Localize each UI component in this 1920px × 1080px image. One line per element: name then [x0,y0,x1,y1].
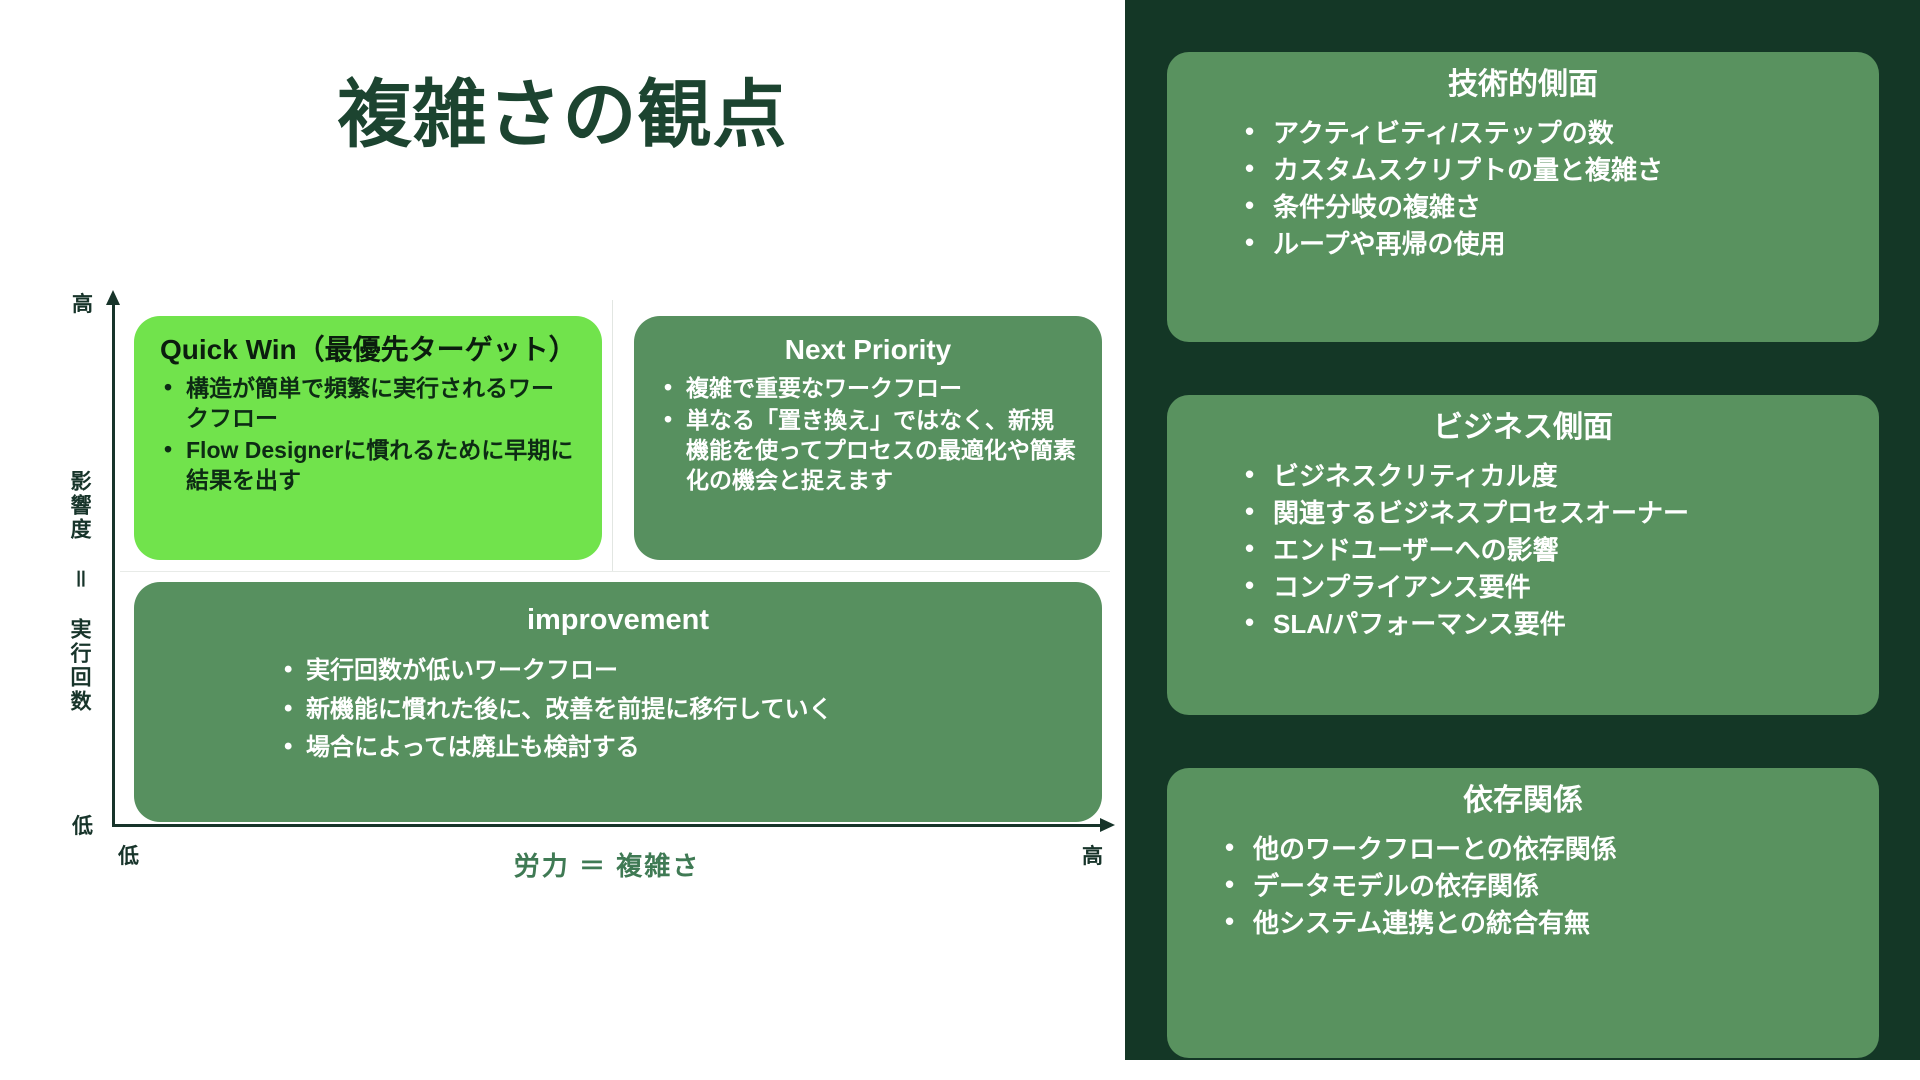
list-item: 関連するビジネスプロセスオーナー [1243,495,1859,532]
quadrant-card-next-priority[interactable]: Next Priority 複雑で重要なワークフロー 単なる「置き換え」ではなく… [634,316,1102,560]
quadrant-card-improvement[interactable]: improvement 実行回数が低いワークフロー 新機能に慣れた後に、改善を前… [134,582,1102,822]
list-item: 新機能に慣れた後に、改善を前提に移行していく [280,694,1076,725]
card-title: 依存関係 [1187,784,1859,817]
y-axis-high-label: 高 [72,288,93,318]
x-axis-line [112,824,1102,827]
quadrant-title: Quick Win（最優先ターゲット） [160,334,576,366]
quadrant-card-quick-win[interactable]: Quick Win（最優先ターゲット） 構造が簡単で頻繁に実行されるワークフロー… [134,316,602,560]
list-item: コンプライアンス要件 [1243,569,1859,606]
list-item: ループや再帰の使用 [1243,226,1859,263]
list-item: 実行回数が低いワークフロー [280,655,1076,686]
quadrant-bullet-list: 複雑で重要なワークフロー 単なる「置き換え」ではなく、新規機能を使ってプロセスの… [660,374,1076,496]
info-card-technical[interactable]: 技術的側面 アクティビティ/ステップの数 カスタムスクリプトの量と複雑さ 条件分… [1167,52,1879,342]
y-axis-title: 影響度 ＝ 実行回数 [56,470,90,714]
matrix-panel: 複雑さの観点 高 低 影響度 ＝ 実行回数 低 高 労力 ＝ 複雑さ Quick… [0,0,1125,1080]
y-axis-arrow-icon [106,290,120,305]
card-bullet-list: ビジネスクリティカル度 関連するビジネスプロセスオーナー エンドユーザーへの影響… [1187,458,1859,643]
quadrant-horizontal-divider [120,571,1110,572]
y-axis-low-label: 低 [72,810,93,840]
quadrant-title: improvement [160,604,1076,637]
quadrant-bullet-list: 構造が簡単で頻繁に実行されるワークフロー Flow Designerに慣れるため… [160,374,576,496]
card-bullet-list: アクティビティ/ステップの数 カスタムスクリプトの量と複雑さ 条件分岐の複雑さ … [1187,115,1859,263]
list-item: 他のワークフローとの依存関係 [1223,831,1859,868]
list-item: ビジネスクリティカル度 [1243,458,1859,495]
slide-canvas: 複雑さの観点 高 低 影響度 ＝ 実行回数 低 高 労力 ＝ 複雑さ Quick… [0,0,1920,1080]
x-axis-title: 労力 ＝ 複雑さ [112,846,1102,883]
list-item: 他システム連携との統合有無 [1223,905,1859,942]
quadrant-bullet-list: 実行回数が低いワークフロー 新機能に慣れた後に、改善を前提に移行していく 場合に… [160,655,1076,763]
card-title: 技術的側面 [1187,68,1859,101]
info-card-dependency[interactable]: 依存関係 他のワークフローとの依存関係 データモデルの依存関係 他システム連携と… [1167,768,1879,1058]
page-title: 複雑さの観点 [0,78,1125,152]
list-item: 構造が簡単で頻繁に実行されるワークフロー [160,374,576,434]
list-item: 複雑で重要なワークフロー [660,374,1076,404]
quadrant-title: Next Priority [660,334,1076,366]
list-item: カスタムスクリプトの量と複雑さ [1243,152,1859,189]
list-item: 条件分岐の複雑さ [1243,189,1859,226]
x-axis-arrow-icon [1100,818,1115,832]
y-axis-line [112,302,115,827]
list-item: Flow Designerに慣れるために早期に結果を出す [160,436,576,496]
list-item: エンドユーザーへの影響 [1243,532,1859,569]
list-item: SLA/パフォーマンス要件 [1243,606,1859,643]
list-item: データモデルの依存関係 [1223,868,1859,905]
card-title: ビジネス側面 [1187,411,1859,444]
card-bullet-list: 他のワークフローとの依存関係 データモデルの依存関係 他システム連携との統合有無 [1187,831,1859,942]
quadrant-vertical-divider [612,300,613,572]
list-item: 単なる「置き換え」ではなく、新規機能を使ってプロセスの最適化や簡素化の機会と捉え… [660,406,1076,496]
info-card-business[interactable]: ビジネス側面 ビジネスクリティカル度 関連するビジネスプロセスオーナー エンドユ… [1167,395,1879,715]
list-item: アクティビティ/ステップの数 [1243,115,1859,152]
sidebar-panel: 技術的側面 アクティビティ/ステップの数 カスタムスクリプトの量と複雑さ 条件分… [1125,0,1920,1060]
list-item: 場合によっては廃止も検討する [280,732,1076,763]
